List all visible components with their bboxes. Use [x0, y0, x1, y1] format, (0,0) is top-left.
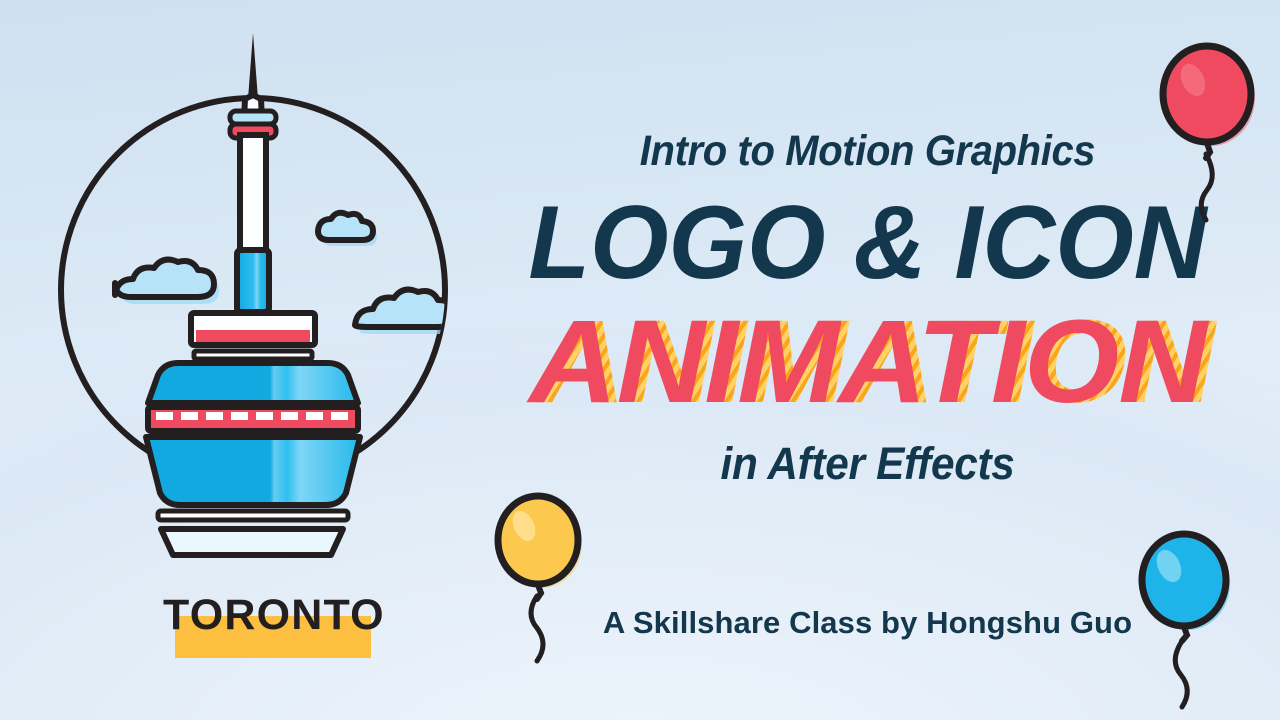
cloud-small [318, 213, 377, 246]
tower-lower-pod [146, 437, 360, 505]
tower-upper-pod [148, 363, 358, 403]
subline-text: in After Effects [517, 441, 1217, 486]
animation-word: ANIMATION [480, 301, 1255, 425]
balloon-yellow-icon [488, 488, 598, 678]
balloon-blue-icon [1128, 528, 1248, 713]
animation-word-group: ANIMATION ANIMATION [495, 301, 1240, 427]
title-text-block: Intro to Motion Graphics LOGO & ICON ANI… [495, 130, 1240, 486]
tower-shaft-block [237, 250, 269, 312]
tower-window-band [148, 407, 358, 431]
tower-band [191, 313, 315, 359]
tower-lower-plates [158, 511, 348, 555]
balloon-pink-icon [1155, 42, 1265, 227]
course-cover-canvas: TORONTO Intro to Motion Graphics LOGO & … [0, 0, 1280, 720]
cn-tower-illustration [40, 25, 480, 585]
cloud-left [115, 260, 219, 304]
headline-text: LOGO & ICON [506, 191, 1229, 295]
toronto-badge: TORONTO [163, 594, 385, 660]
eyebrow-text: Intro to Motion Graphics [521, 130, 1214, 173]
toronto-label: TORONTO [163, 594, 385, 637]
